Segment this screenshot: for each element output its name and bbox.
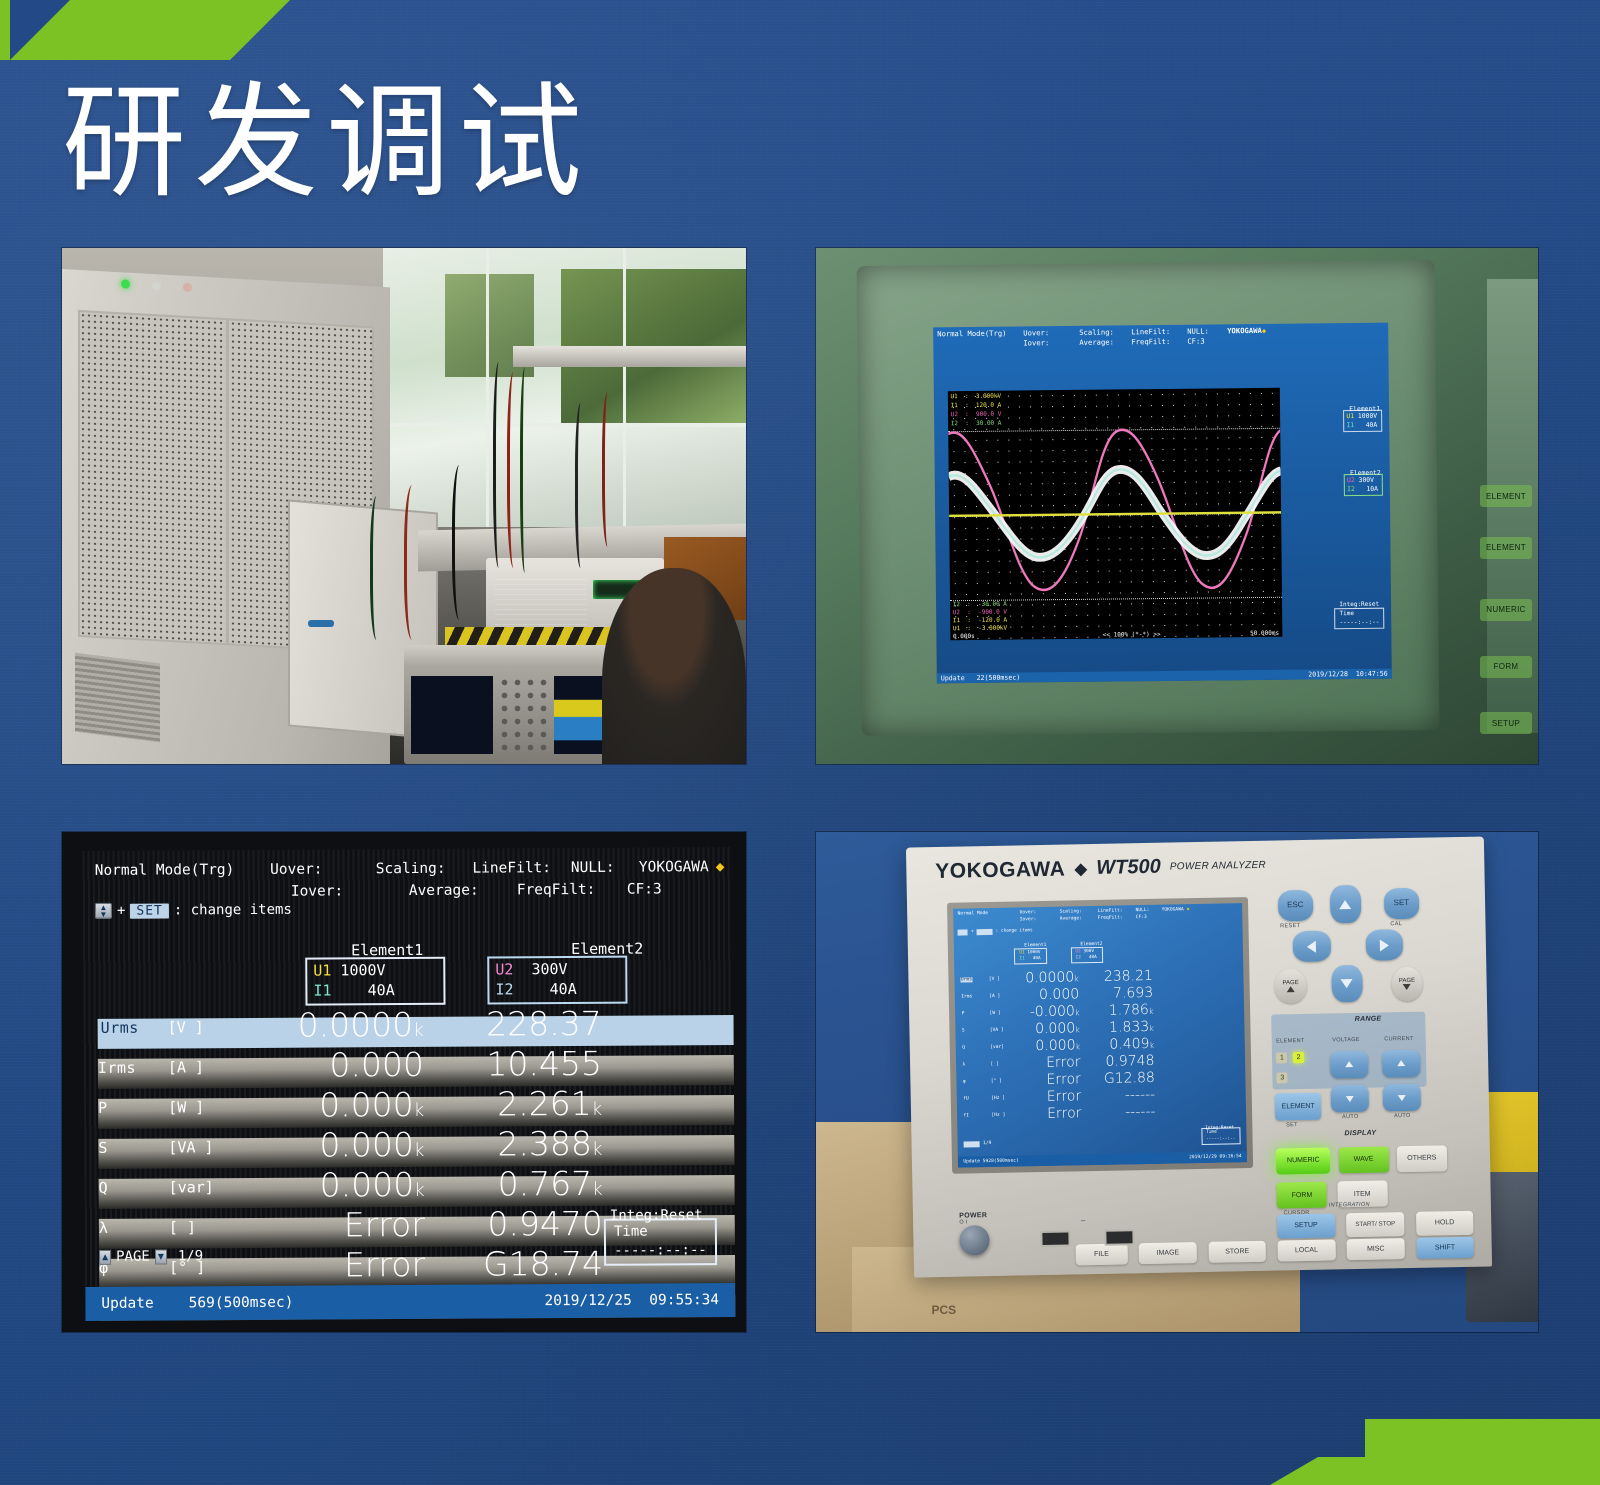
- esc-reset-label: RESET: [1280, 923, 1300, 929]
- element2-value: 2.261k: [432, 1084, 602, 1124]
- page-up-icon[interactable]: ▲: [99, 1249, 111, 1264]
- page-label: PAGE: [116, 1249, 150, 1265]
- waveform-plot-area: U1 : 3.000kV I1 : 120.0 A U2 : 900.0 V I…: [948, 388, 1283, 641]
- lcd-element1-title: Element1: [1024, 943, 1046, 948]
- param-unit: [var]: [168, 1178, 213, 1196]
- measurement-row: S[VA ]0.000k2.388k: [84, 1125, 734, 1169]
- wall-shelf: [513, 346, 746, 367]
- lcd-update-value: 5928(500msec): [983, 1158, 1019, 1164]
- store-button[interactable]: STORE: [1208, 1241, 1266, 1264]
- param-unit: [var]: [990, 1045, 1004, 1050]
- cable: [370, 496, 386, 640]
- voltage-range-up-button[interactable]: [1330, 1050, 1368, 1078]
- set-button[interactable]: SET: [1383, 888, 1419, 920]
- update-label: Update: [101, 1296, 153, 1312]
- lcd-status-bar: Update 5928(500msec) 2019/12/29 09:16:54: [958, 1151, 1247, 1168]
- usb-port-1: [1040, 1231, 1070, 1248]
- set-key-label: SET: [130, 903, 169, 918]
- element2-value: 10.455: [432, 1044, 602, 1084]
- cabinet-mesh-divider: [226, 317, 229, 644]
- arrow-right-icon: [1380, 939, 1389, 951]
- lcd-change-items-text: : change items: [995, 929, 1032, 935]
- lcd-measurement-rows: Urms[V ]0.0000k238.21Irms[A ]0.0007.693P…: [955, 967, 1246, 1126]
- element2-value: 7.693: [1083, 985, 1153, 1002]
- param-unit: [W ]: [989, 1011, 1000, 1016]
- shift-button[interactable]: SHIFT: [1416, 1237, 1474, 1260]
- param-unit: [ ]: [169, 1218, 196, 1236]
- wave-iover-label: Iover:: [1023, 339, 1079, 350]
- window-mullion: [623, 248, 626, 527]
- element-number-1[interactable]: 1: [1276, 1052, 1287, 1063]
- display-title: DISPLAY: [1344, 1129, 1376, 1137]
- others-display-button[interactable]: OTHERS: [1397, 1145, 1447, 1172]
- element1-value: 0.0000k: [1009, 969, 1079, 986]
- integ-hold-button[interactable]: HOLD: [1415, 1211, 1473, 1236]
- window-rail: [383, 423, 746, 427]
- measurement-row: Irms[A ]0.00010.455: [84, 1045, 734, 1089]
- update-value: 22(500msec): [977, 674, 1021, 682]
- lcd-time: 09:16:54: [1219, 1154, 1241, 1159]
- arrow-up-icon: [1287, 986, 1295, 992]
- lcd-integ-time-value: -----:--:--: [1206, 1136, 1235, 1143]
- num-null-label: NULL:: [571, 857, 639, 879]
- element-select-button[interactable]: ELEMENT: [1275, 1092, 1321, 1120]
- param-label: fI: [963, 1113, 969, 1118]
- side-button-form[interactable]: FORM: [1480, 656, 1532, 678]
- element1-value: 0.000k: [1010, 1037, 1080, 1054]
- misc-button[interactable]: MISC: [1347, 1238, 1405, 1261]
- param-unit: [W ]: [168, 1098, 204, 1116]
- lab-test-bench-photo: [62, 248, 746, 764]
- param-label: fU: [963, 1096, 969, 1101]
- arrow-up-icon: [1397, 1060, 1405, 1066]
- integ-reset-box: Integ:Reset Time -----:--:--: [1334, 601, 1384, 629]
- element2-value: 228.37: [431, 1004, 601, 1044]
- param-unit: [ ]: [990, 1062, 998, 1067]
- wt500-keypad: ESC RESET SET CAL PAGE: [1265, 880, 1479, 1228]
- scale-i2-top: I2 : 30.00 A: [951, 420, 1002, 428]
- param-label: Irms: [961, 994, 972, 999]
- lcd-page-value: 1/9: [983, 1141, 991, 1146]
- wave-cf-label: CF:3: [1187, 337, 1227, 348]
- set-key-icon: [976, 929, 992, 935]
- page-title: 研发调试: [62, 78, 590, 208]
- cable: [520, 367, 532, 573]
- lcd-element-boxes: Element1 U1 1000V I1 40A Element2 U2 300…: [1014, 942, 1103, 965]
- wave-brand-label: YOKOGAWA: [1227, 326, 1262, 337]
- image-button[interactable]: IMAGE: [1139, 1242, 1197, 1265]
- window-mullion: [486, 248, 489, 527]
- cable: [452, 465, 470, 620]
- param-unit: [V ]: [989, 977, 1000, 982]
- cable: [575, 403, 589, 568]
- element2-value: 238.21: [1083, 968, 1153, 985]
- arrow-down-icon: [1398, 1095, 1406, 1101]
- lcd-iover-label: Iover:: [1020, 916, 1060, 924]
- element2-range-box: U2 300V I2 40A: [487, 956, 627, 1005]
- update-label: Update: [941, 675, 965, 683]
- power-section: POWER O I: [959, 1212, 990, 1256]
- wave-average-label: Average:: [1079, 338, 1131, 349]
- cabinet-door-handle: [308, 620, 334, 627]
- element2-value: 0.767k: [432, 1164, 602, 1204]
- page-navigator[interactable]: ▲ PAGE ▼ 1/9: [99, 1248, 203, 1265]
- lcd-cf-label: CF:3: [1136, 914, 1162, 921]
- element2-value: ------: [1085, 1104, 1155, 1121]
- cabinet-vent: [75, 653, 160, 743]
- current-range-up-button[interactable]: [1382, 1049, 1420, 1077]
- lab-scene: [62, 248, 746, 764]
- form-button[interactable]: FORM: [1277, 1182, 1327, 1209]
- current-auto-label: AUTO: [1394, 1113, 1411, 1119]
- carton-label: PCS: [932, 1303, 957, 1317]
- side-button-element-2[interactable]: ELEMENT: [1480, 537, 1532, 559]
- page-up-button[interactable]: PAGE: [1275, 969, 1307, 1004]
- integ-time-value: -----:--:--: [1340, 619, 1380, 628]
- numeric-status-header: Normal Mode(Trg) Uover: Scaling: LineFil…: [95, 856, 725, 904]
- element-set-label: SET: [1286, 1122, 1298, 1128]
- file-button[interactable]: FILE: [1075, 1243, 1127, 1265]
- brand-diamond-icon: ◆: [1262, 326, 1266, 336]
- num-scaling-label: Scaling:: [376, 858, 473, 881]
- set-cal-label: CAL: [1390, 921, 1402, 927]
- page-down-button[interactable]: PAGE: [1391, 967, 1423, 1002]
- element1-value: 0.000: [244, 1045, 424, 1085]
- local-button[interactable]: LOCAL: [1277, 1239, 1335, 1262]
- side-button-element-1[interactable]: ELEMENT: [1480, 485, 1532, 507]
- time-end-label: 50.000ms: [1250, 630, 1279, 638]
- element1-value: Error: [1011, 1105, 1081, 1122]
- side-button-numeric[interactable]: NUMERIC: [1480, 599, 1532, 621]
- param-unit: [° ]: [991, 1079, 1002, 1084]
- param-label: S: [962, 1028, 965, 1033]
- param-label: φ: [963, 1079, 966, 1084]
- corner-accent-bottom-right: [1270, 1419, 1600, 1485]
- device-model: WT500: [1096, 856, 1161, 880]
- element2-range-box: Element2 U2 300V I2 10A: [1344, 469, 1383, 496]
- waveform-display-photo: Normal Mode(Trg) Uover: Scaling: LineFil…: [816, 248, 1538, 764]
- element1-value: 0.000k: [244, 1085, 424, 1125]
- voltage-title: VOLTAGE: [1332, 1037, 1360, 1044]
- u2-voltage-trace: [948, 429, 1282, 592]
- param-label: P: [961, 1011, 964, 1016]
- updown-key-icon: [958, 929, 968, 935]
- update-value: 569(500msec): [188, 1295, 293, 1312]
- wt500-lcd-screen: Normal Mode Uover: Scaling: LineFilt: NU…: [953, 903, 1246, 1167]
- arrow-down-icon: [1346, 1096, 1354, 1102]
- change-items-hint: ▲▼ + SET : change items: [95, 902, 292, 919]
- numeric-display-photo: Normal Mode(Trg) Uover: Scaling: LineFil…: [62, 832, 746, 1332]
- element-number-2[interactable]: 2: [1293, 1052, 1304, 1063]
- wave-freqfilt-label: FreqFilt:: [1131, 338, 1187, 349]
- measurement-rows: Urms[V ]0.0000k228.37Irms[A ]0.00010.455…: [83, 1005, 735, 1321]
- screen-date: 2019/12/28: [1308, 670, 1348, 678]
- current-title: CURRENT: [1384, 1036, 1414, 1043]
- cable: [602, 392, 616, 547]
- scale-u1-bottom: U1 : -3.000kV: [953, 625, 1007, 633]
- measurement-row: Urms[V ]0.0000k228.37: [83, 1005, 733, 1049]
- element1-range-box: U1 1000V I1 40A: [305, 957, 445, 1006]
- element1-value: Error: [1011, 1088, 1081, 1105]
- param-label: λ: [962, 1062, 965, 1067]
- wave-display-button[interactable]: WAVE: [1338, 1146, 1388, 1173]
- usb-icon: ⎓: [1080, 1218, 1085, 1225]
- arrow-down-icon: [1341, 979, 1353, 988]
- param-unit: [Hz ]: [991, 1113, 1005, 1118]
- param-unit: [A ]: [168, 1058, 204, 1076]
- element1-range-box: Element1 U1 1000V I1 40A: [1343, 405, 1382, 432]
- element2-value: 1.833k: [1084, 1019, 1154, 1036]
- nav-down-button[interactable]: [1331, 964, 1363, 1002]
- element1-value: 0.000: [1009, 986, 1079, 1003]
- lcd-element2-title: Element2: [1080, 942, 1102, 947]
- updown-key-icon: ▲▼: [95, 903, 112, 919]
- measurement-row: Q[var]0.000k0.767k: [84, 1165, 734, 1209]
- usb-port-2: [1104, 1229, 1134, 1246]
- element-title: ELEMENT: [1276, 1038, 1305, 1045]
- param-unit: [Hz ]: [991, 1096, 1005, 1101]
- brand-diamond-icon: ◆: [1187, 907, 1190, 914]
- arrow-up-icon: [1345, 1061, 1353, 1067]
- lcd-change-items-hint: + : change items: [958, 928, 1033, 935]
- element1-value: Error: [245, 1245, 425, 1285]
- current-range-down-button[interactable]: [1383, 1084, 1421, 1112]
- voltage-auto-label: AUTO: [1342, 1114, 1359, 1120]
- voltage-range-down-button[interactable]: [1331, 1085, 1369, 1113]
- nav-right-button[interactable]: [1365, 929, 1403, 961]
- measurement-row: P[W ]0.000k2.261k: [84, 1085, 734, 1129]
- element2-value: 0.409k: [1084, 1036, 1154, 1053]
- range-title: RANGE: [1355, 1016, 1382, 1024]
- waveform-status-header: Normal Mode(Trg) Uover: Scaling: LineFil…: [933, 323, 1388, 352]
- lcd-date: 2019/12/29: [1189, 1154, 1217, 1160]
- integ-start-stop-button[interactable]: START/ STOP: [1346, 1212, 1404, 1237]
- wt500-chassis: YOKOGAWA ◆ WT500 POWER ANALYZER Normal M…: [906, 836, 1492, 1277]
- element2-value: ------: [1085, 1087, 1155, 1104]
- num-linefilt-label: LineFilt:: [472, 857, 571, 880]
- element2-value: G12.88: [1085, 1070, 1155, 1087]
- lcd-page-navigator[interactable]: 1/9: [964, 1141, 991, 1148]
- screen-date: 2019/12/25: [544, 1293, 631, 1310]
- page-up-icon[interactable]: [964, 1141, 980, 1147]
- waveform-screen: Normal Mode(Trg) Uover: Scaling: LineFil…: [933, 323, 1392, 684]
- arrow-down-icon: [1403, 984, 1411, 990]
- cabinet-indicator-leds: [121, 279, 192, 292]
- num-uover-label: Uover:: [270, 858, 376, 881]
- scale-u2-top: U2 : 900.0 V: [951, 411, 1002, 419]
- power-marks-label: O I: [959, 1219, 989, 1226]
- element2-value: G18.74: [433, 1244, 603, 1284]
- nav-left-button[interactable]: [1293, 931, 1331, 963]
- cable: [404, 485, 424, 640]
- arrow-left-icon: [1307, 940, 1316, 952]
- integ-time-value: -----:--:--: [614, 1242, 707, 1262]
- element1-value: Error: [1010, 1054, 1080, 1071]
- num-average-label: Average:: [409, 879, 517, 902]
- integ-reset-box: Integ:Reset Time -----:--:--: [604, 1206, 717, 1265]
- plus-sign: +: [117, 903, 126, 919]
- param-unit: [VA ]: [168, 1138, 213, 1156]
- num-freqfilt-label: FreqFilt:: [517, 879, 627, 902]
- nav-up-button[interactable]: [1329, 885, 1361, 923]
- lcd-integ-box: Integ:Reset Time -----:--:--: [1201, 1126, 1240, 1145]
- param-unit: [VA ]: [990, 1028, 1004, 1033]
- integ-setup-button[interactable]: SETUP: [1277, 1214, 1335, 1239]
- element-number-3[interactable]: 3: [1277, 1072, 1288, 1083]
- element-range-boxes: U1 1000V I1 40A U2 300V I2 40A: [305, 956, 627, 1006]
- page-down-icon[interactable]: ▼: [155, 1249, 167, 1264]
- esc-button[interactable]: ESC: [1277, 890, 1313, 922]
- scale-u1-top: U1 : 3.000kV: [951, 393, 1002, 401]
- cable: [493, 362, 507, 568]
- numeric-status-bar: Update 569(500msec) 2019/12/25 09:55:34: [85, 1283, 735, 1321]
- arrow-up-icon: [1339, 900, 1351, 909]
- zoom-indicator: << 100% (*-*) >>: [1103, 631, 1161, 639]
- screen-time: 09:55:34: [649, 1292, 719, 1308]
- device-branding: YOKOGAWA ◆ WT500 POWER ANALYZER: [935, 854, 1266, 884]
- num-iover-label: Iover:: [291, 880, 409, 903]
- lcd-freqfilt-label: FreqFilt:: [1098, 915, 1136, 923]
- oscilloscope-screen: [411, 676, 493, 754]
- num-brand-label: YOKOGAWA: [639, 856, 709, 878]
- num-cf-label: CF:3: [627, 878, 703, 900]
- element1-value: Error: [1011, 1071, 1081, 1088]
- wt500-device-photo: PCS YOKOGAWA ◆ WT500 POWER ANALYZER Norm…: [816, 832, 1538, 1332]
- element2-value: 0.9470: [433, 1204, 603, 1244]
- brand-diamond-icon: ◆: [1074, 859, 1087, 879]
- element2-value: 0.9748: [1084, 1053, 1154, 1070]
- lcd-status-header: Normal Mode Uover: Scaling: LineFilt: NU…: [957, 906, 1239, 925]
- lcd-brand-label: YOKOGAWA: [1161, 907, 1183, 914]
- screen-time: 10:47:56: [1356, 670, 1388, 678]
- num-mode-label: Normal Mode(Trg): [95, 859, 271, 882]
- integration-title: INTEGRATION: [1329, 1202, 1370, 1209]
- param-label: Urms: [961, 977, 972, 982]
- element1-value: Error: [245, 1205, 425, 1245]
- element1-value: 0.000k: [244, 1165, 424, 1205]
- element1-value: 0.000k: [244, 1125, 424, 1165]
- time-start-label: 0.000s: [953, 633, 975, 641]
- element1-value: -0.000k: [1009, 1003, 1079, 1020]
- element1-value: 0.0000k: [243, 1005, 423, 1045]
- device-subtitle: POWER ANALYZER: [1170, 860, 1266, 873]
- side-button-setup[interactable]: SETUP: [1480, 712, 1532, 734]
- power-button[interactable]: [959, 1225, 990, 1256]
- change-items-text: : change items: [174, 902, 292, 919]
- lcd-frame: Normal Mode Uover: Scaling: LineFilt: NU…: [947, 897, 1252, 1174]
- element1-value: 0.000k: [1010, 1020, 1080, 1037]
- param-unit: [V ]: [167, 1018, 203, 1036]
- numeric-display-button[interactable]: NUMERIC: [1276, 1147, 1331, 1174]
- brand-diamond-icon: ◆: [716, 856, 725, 878]
- param-unit: [A ]: [989, 994, 1000, 999]
- page-value: 1/9: [178, 1248, 203, 1264]
- scale-i1-top: I1 : 120.0 A: [951, 402, 1002, 410]
- element2-value: 1.786k: [1083, 1002, 1153, 1019]
- numeric-screen: Normal Mode(Trg) Uover: Scaling: LineFil…: [82, 847, 735, 1321]
- brand-name: YOKOGAWA: [935, 857, 1065, 883]
- lcd-update-label: Update: [963, 1159, 980, 1164]
- param-label: Q: [962, 1045, 965, 1050]
- lcd-average-label: Average:: [1060, 916, 1098, 924]
- element2-value: 2.388k: [432, 1124, 602, 1164]
